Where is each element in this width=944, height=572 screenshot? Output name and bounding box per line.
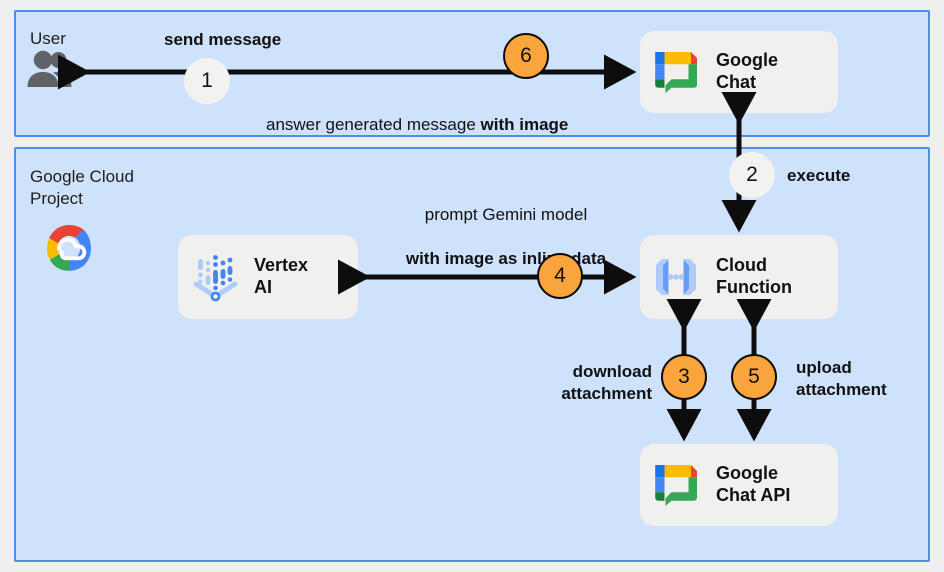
google-chat-icon [650,46,702,98]
diagram-canvas: User [0,0,944,572]
node-vertex-ai-label: Vertex AI [254,255,308,299]
step-badge-5: 5 [731,354,777,400]
step-badge-4: 4 [537,253,583,299]
node-google-chat[interactable]: Google Chat [640,31,838,113]
users-icon [24,50,76,90]
node-google-chat-api[interactable]: Google Chat API [640,444,838,526]
step-badge-3: 3 [661,354,707,400]
vertex-ai-icon [190,251,242,303]
node-cloud-function-label: Cloud Function [716,255,792,299]
node-google-chat-api-label: Google Chat API [716,463,790,507]
node-cloud-function[interactable]: Cloud Function [640,235,838,319]
step-badge-6: 6 [503,33,549,79]
node-vertex-ai[interactable]: Vertex AI [178,235,358,319]
panel-user-title: User [30,28,66,50]
step-badge-2: 2 [729,152,775,198]
panel-google-cloud-project-title: Google Cloud Project [30,166,134,210]
edge-label-execute: execute [787,165,850,187]
edge-label-answer-plain: answer generated message [266,115,481,134]
google-chat-icon [650,459,702,511]
edge-label-download-attachment: download attachment [527,361,652,405]
google-cloud-icon [36,222,102,278]
edge-label-answer-generated-message: answer generated message with image [266,92,568,136]
edge-label-upload-attachment: upload attachment [796,357,931,401]
edge-label-answer-bold: with image [481,115,569,134]
node-google-chat-label: Google Chat [716,50,778,94]
cloud-function-icon [650,251,702,303]
edge-label-prompt-bold: with image as inline data [356,248,656,270]
edge-label-prompt-plain: prompt Gemini model [356,204,656,226]
step-badge-1: 1 [184,58,230,104]
edge-label-send-message: send message [164,29,281,51]
edge-label-prompt-gemini: prompt Gemini model with image as inline… [356,182,656,292]
